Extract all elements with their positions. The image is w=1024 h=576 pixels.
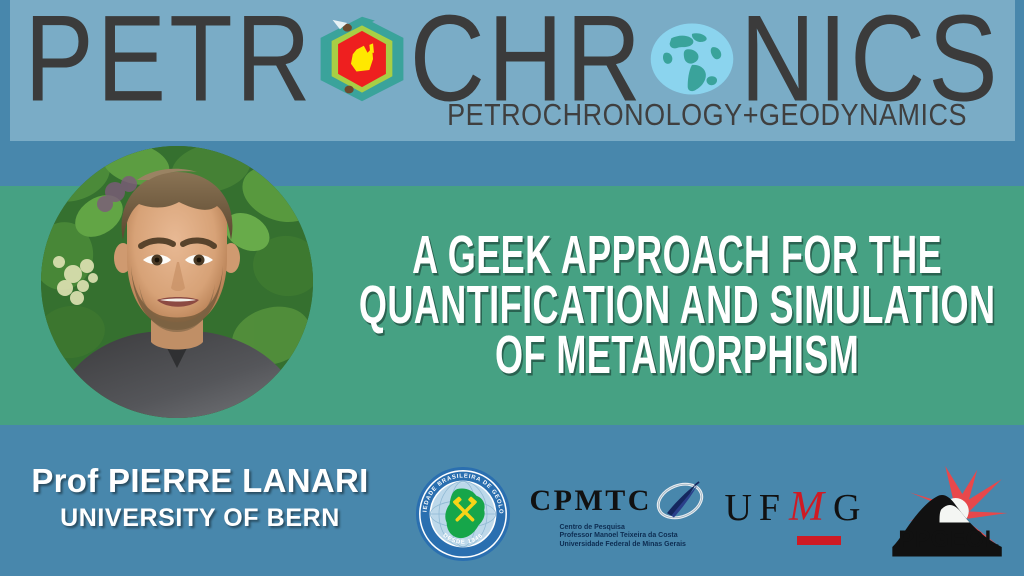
sbg-seal-svg: SOCIEDADE BRASILEIRA DE GEOLOGIA DESDE 1… (415, 466, 511, 562)
cpmtc-sub-line-2: Professor Manoel Teixeira da Costa (559, 532, 685, 541)
cpmtc-header-row: CPMTC (529, 479, 705, 523)
talk-title: A GEEK APPROACH FOR THE QUANTIFICATION A… (330, 196, 1024, 416)
speaker-info: Prof PIERRE LANARI UNIVERSITY OF BERN (0, 462, 400, 533)
cpmtc-subtitle: Centro de Pesquisa Professor Manoel Teix… (559, 524, 685, 550)
cpmtc-sub-line-1: Centro de Pesquisa (559, 524, 685, 533)
speaker-name: Prof PIERRE LANARI (0, 462, 400, 500)
cpmtc-emblem-icon (654, 479, 706, 523)
cpmtc-logo: CPMTC Centro de Pesquisa Professor Manoe… (529, 479, 705, 550)
ufmg-letters: U F M G (724, 483, 867, 531)
ppgeol-wordmark: PPGEOL (898, 526, 999, 552)
event-poster: PETR CHR (0, 0, 1024, 576)
ufmg-letter-g: G (833, 486, 867, 530)
cpmtc-sub-line-3: Universidade Federal de Minas Gerais (559, 541, 685, 550)
garnet-zoning-map-icon (314, 7, 410, 111)
wordmark-part-petr: PETR (24, 0, 313, 120)
ppgeol-logo: PPGEOL (886, 464, 1010, 564)
globe-icon (644, 7, 740, 111)
title-line-3: OF METAMORPHISM (495, 326, 859, 387)
portrait-photo (41, 146, 313, 418)
ufmg-red-bar (797, 536, 841, 545)
header-banner: PETR CHR (10, 0, 1015, 141)
garnet-hexagon-svg (316, 15, 408, 103)
speaker-affiliation: UNIVERSITY OF BERN (0, 504, 400, 533)
ufmg-logo: U F M G (724, 483, 867, 545)
ufmg-letter-u: U (724, 486, 758, 530)
globe-svg (649, 18, 735, 101)
ufmg-letter-m: M (787, 483, 833, 531)
ufmg-letter-f: F (759, 486, 787, 530)
cpmtc-acronym: CPMTC (529, 484, 651, 518)
speaker-portrait (41, 146, 313, 418)
sponsor-logo-row: SOCIEDADE BRASILEIRA DE GEOLOGIA DESDE 1… (405, 452, 1024, 576)
sbg-logo: SOCIEDADE BRASILEIRA DE GEOLOGIA DESDE 1… (415, 466, 511, 562)
ppgeol-mountain-icon: PPGEOL (886, 464, 1010, 564)
logo-tagline: PETROCHRONOLOGY+GEODYNAMICS (447, 98, 967, 133)
